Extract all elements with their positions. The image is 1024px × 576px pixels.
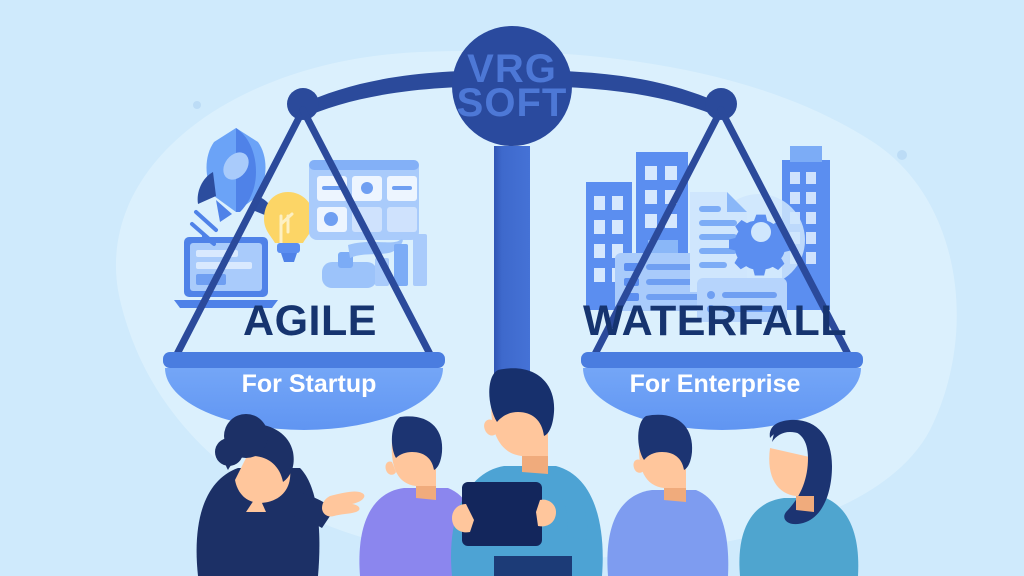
decor-dot-right <box>897 150 907 160</box>
decor-dot-left <box>193 101 201 109</box>
illustration-canvas: AGILE WATERFALL For Startup For Enterpri… <box>0 0 1024 576</box>
agile-vs-waterfall-illustration <box>0 0 1024 576</box>
logo-circle <box>452 26 572 146</box>
list-panel-icon-bottom <box>697 278 787 322</box>
tablet-device <box>462 482 542 546</box>
